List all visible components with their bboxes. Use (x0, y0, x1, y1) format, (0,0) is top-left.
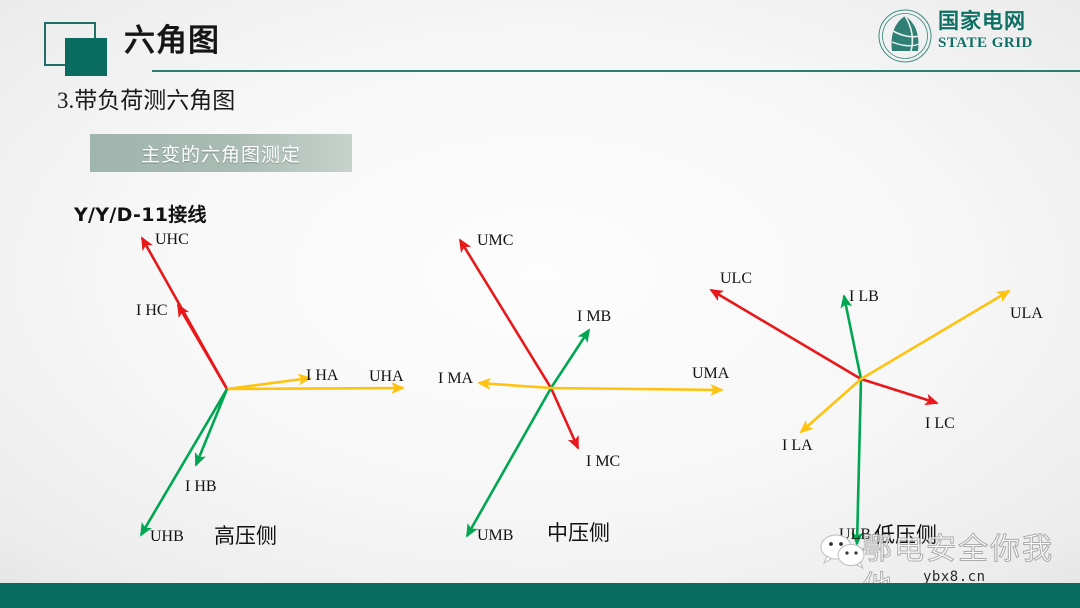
phasor-label-uhc: UHC (155, 231, 189, 248)
diagram-caption-high-voltage-side: 高压侧 (214, 524, 277, 548)
phasor-vector-ilb (844, 296, 861, 379)
phasor-diagrams: UHCI HCI HAUHAI HBUHB高压侧UMCI MCI MBUMBI … (0, 0, 1080, 608)
phasor-vector-ila (801, 379, 861, 432)
phasor-label-ima: I MA (438, 370, 474, 387)
phasor-diagram-high-voltage-side: UHCI HCI HAUHAI HBUHB高压侧 (136, 231, 404, 548)
phasor-vector-ihc (178, 305, 227, 389)
phasor-vector-ulb (857, 379, 861, 544)
phasor-label-uhb: UHB (150, 528, 184, 545)
phasor-label-ihc: I HC (136, 302, 168, 319)
phasor-vector-uha (227, 388, 403, 389)
phasor-label-ula: ULA (1010, 305, 1043, 322)
slide-canvas: 六角图 国家电网 STATE GRID 3.带负荷测六角图 主变的六角图测定 Y… (0, 0, 1080, 608)
phasor-vector-ulc (711, 290, 861, 379)
phasor-vector-imb (551, 330, 589, 388)
phasor-label-ila: I LA (782, 437, 813, 454)
footer-bar (0, 583, 1080, 608)
phasor-vector-imc (551, 388, 578, 448)
phasor-label-imb: I MB (577, 308, 611, 325)
wechat-icon (820, 533, 866, 569)
phasor-vector-ihb (196, 389, 227, 465)
phasor-label-ulc: ULC (720, 270, 752, 287)
phasor-label-uma: UMA (692, 365, 730, 382)
phasor-diagram-low-voltage-side: ULCI LCI LBULBULAI LA低压侧 (711, 270, 1043, 547)
phasor-diagram-medium-voltage-side: UMCI MCI MBUMBI MAUMA中压侧 (438, 232, 730, 545)
phasor-label-ilc: I LC (925, 415, 955, 432)
diagram-caption-medium-voltage-side: 中压侧 (547, 521, 610, 545)
phasor-vector-umb (467, 388, 551, 536)
phasor-label-ihb: I HB (185, 478, 217, 495)
phasor-label-imc: I MC (586, 453, 620, 470)
phasor-vector-ula (861, 291, 1009, 379)
phasor-vector-uhb (141, 389, 227, 535)
phasor-vector-umc (460, 240, 551, 388)
phasor-label-umb: UMB (477, 527, 513, 544)
phasor-label-umc: UMC (477, 232, 513, 249)
phasor-vector-uma (551, 388, 722, 390)
phasor-label-ilb: I LB (849, 288, 879, 305)
phasor-vector-ilc (861, 379, 937, 403)
phasor-label-uha: UHA (369, 368, 404, 385)
phasor-label-iha: I HA (306, 367, 339, 384)
wechat-watermark: 鄂电安全你我他 ybx8.cn (820, 525, 1072, 577)
phasor-vector-ima (479, 383, 551, 388)
